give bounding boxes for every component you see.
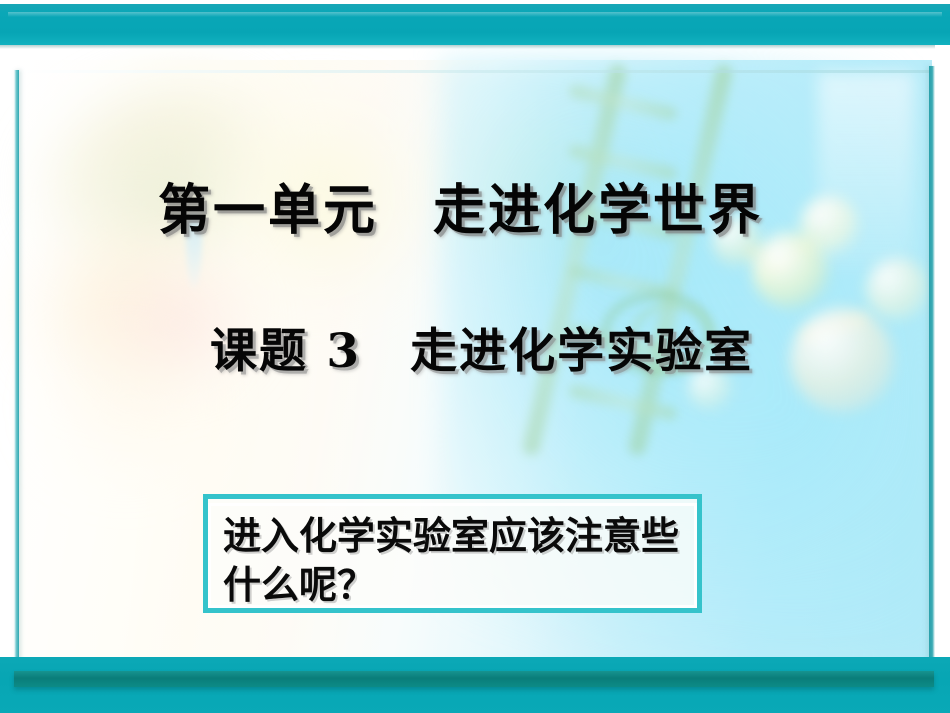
question-callout-inner: 进入化学实验室应该注意些什么呢？ — [208, 503, 697, 608]
lesson-title: 课题 3 走进化学实验室 — [210, 312, 753, 381]
right-white-margin — [935, 45, 950, 660]
top-band-sheen — [8, 12, 942, 17]
presentation-slide: 第一单元 走进化学世界 课题 3 走进化学实验室 进入化学实验室应该注意些什么呢… — [0, 0, 950, 713]
inner-frame-left-line — [14, 70, 19, 660]
top-band-shadow — [0, 45, 950, 49]
unit-title: 第一单元 走进化学世界 — [158, 166, 763, 244]
question-callout-box: 进入化学实验室应该注意些什么呢？ — [203, 494, 702, 613]
top-decorative-band — [0, 4, 950, 45]
inner-frame-top-line — [18, 70, 932, 73]
bottom-accent-stripe — [14, 671, 934, 687]
question-text: 进入化学实验室应该注意些什么呢？ — [223, 512, 684, 609]
